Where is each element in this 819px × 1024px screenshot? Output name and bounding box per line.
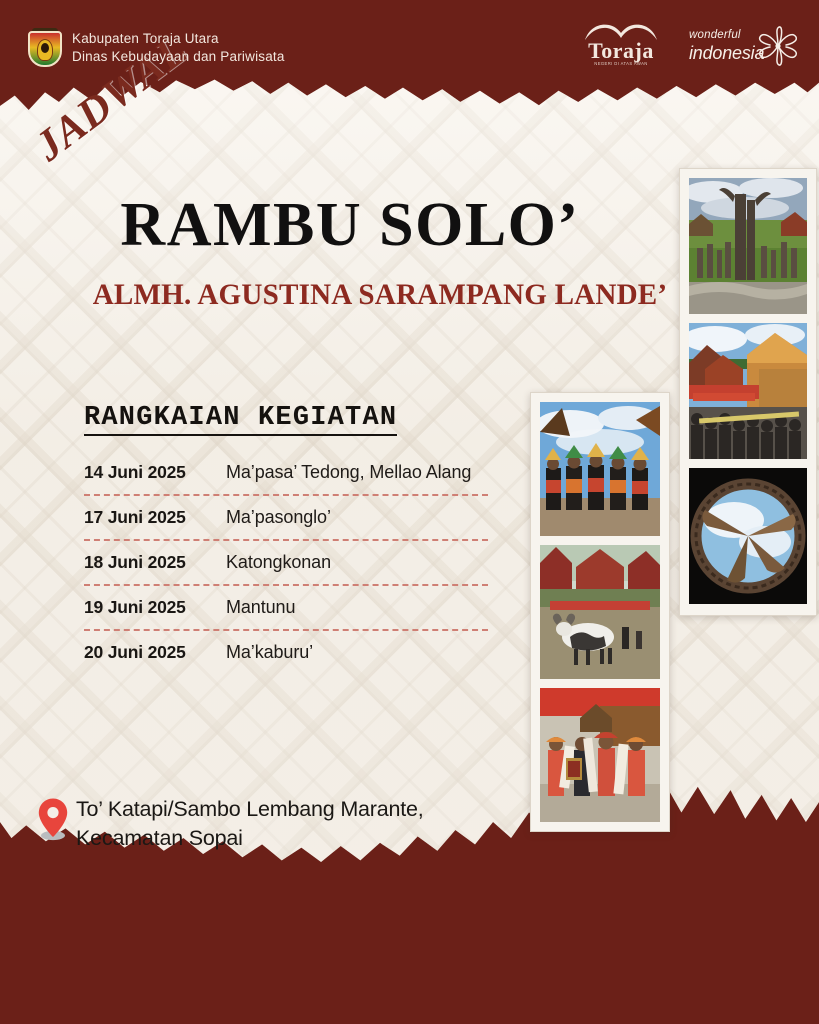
wonderful-indonesia-logo: wonderful indonesia: [689, 23, 797, 69]
table-row: 14 Juni 2025 Ma’pasa’ Tedong, Mellao Ala…: [84, 462, 504, 483]
schedule-rows: 14 Juni 2025 Ma’pasa’ Tedong, Mellao Ala…: [84, 462, 504, 663]
table-row: 18 Juni 2025 Katongkonan: [84, 552, 504, 573]
org-line-1: Kabupaten Toraja Utara: [72, 30, 285, 48]
poster-root: Kabupaten Toraja Utara Dinas Kebudayaan …: [0, 0, 819, 1024]
schedule-date: 18 Juni 2025: [84, 552, 226, 573]
page-title: RAMBU SOLO’: [0, 190, 700, 261]
row-divider: [84, 494, 488, 496]
photo-column-right: [679, 168, 817, 616]
row-divider: [84, 629, 488, 631]
schedule-activity: Ma’pasonglo’: [226, 507, 331, 528]
photo-column-middle: [530, 392, 670, 832]
map-pin-icon: [36, 797, 70, 841]
schedule-date: 20 Juni 2025: [84, 642, 226, 663]
schedule-heading: RANGKAIAN KEGIATAN: [84, 403, 397, 436]
deceased-name: ALMH. AGUSTINA SARAMPANG LANDE’: [11, 278, 748, 312]
schedule-activity: Ma’pasa’ Tedong, Mellao Alang: [226, 462, 471, 483]
schedule-activity: Ma’kaburu’: [226, 642, 313, 663]
header-bar: Kabupaten Toraja Utara Dinas Kebudayaan …: [0, 0, 819, 90]
toraja-tagline: NEGERI DI ATAS AWAN: [579, 61, 663, 66]
location-text: To’ Katapi/Sambo Lembang Marante, Kecama…: [76, 795, 424, 852]
schedule-date: 19 Juni 2025: [84, 597, 226, 618]
photo-tongkonan-crowd: [689, 323, 807, 459]
location-line-2: Kecamatan Sopai: [76, 824, 424, 853]
location-line-1: To’ Katapi/Sambo Lembang Marante,: [76, 795, 424, 824]
toraja-logo: Toraja NEGERI DI ATAS AWAN: [579, 22, 663, 70]
kabupaten-crest-icon: [28, 28, 62, 68]
photo-buffalo-procession: [540, 545, 660, 679]
brand-logo-group: Toraja NEGERI DI ATAS AWAN wonderful ind…: [579, 22, 797, 70]
table-row: 17 Juni 2025 Ma’pasonglo’: [84, 507, 504, 528]
table-row: 20 Juni 2025 Ma’kaburu’: [84, 642, 504, 663]
wonderful-indonesia-mark-icon: [757, 25, 799, 67]
table-row: 19 Juni 2025 Mantunu: [84, 597, 504, 618]
schedule-date: 14 Juni 2025: [84, 462, 226, 483]
schedule-activity: Mantunu: [226, 597, 295, 618]
org-name: Kabupaten Toraja Utara Dinas Kebudayaan …: [72, 30, 285, 66]
wi-line-2: indonesia: [689, 43, 764, 64]
schedule-section: RANGKAIAN KEGIATAN 14 Juni 2025 Ma’pasa’…: [84, 403, 504, 663]
wi-line-1: wonderful: [689, 29, 741, 41]
schedule-activity: Katongkonan: [226, 552, 331, 573]
photo-fisheye-sky: [689, 468, 807, 604]
photo-ceremony-procession: [540, 688, 660, 822]
kabupaten-logo-group: Kabupaten Toraja Utara Dinas Kebudayaan …: [28, 28, 285, 68]
location-block: To’ Katapi/Sambo Lembang Marante, Kecama…: [36, 795, 506, 852]
footer-bar: VISITTORAJAUTARA WWW.HALOTORAJAUTARA.COM…: [0, 904, 819, 1024]
photo-megalith-stones: [689, 178, 807, 314]
row-divider: [84, 539, 488, 541]
photo-traditional-dancers: [540, 402, 660, 536]
org-line-2: Dinas Kebudayaan dan Pariwisata: [72, 48, 285, 66]
schedule-date: 17 Juni 2025: [84, 507, 226, 528]
row-divider: [84, 584, 488, 586]
